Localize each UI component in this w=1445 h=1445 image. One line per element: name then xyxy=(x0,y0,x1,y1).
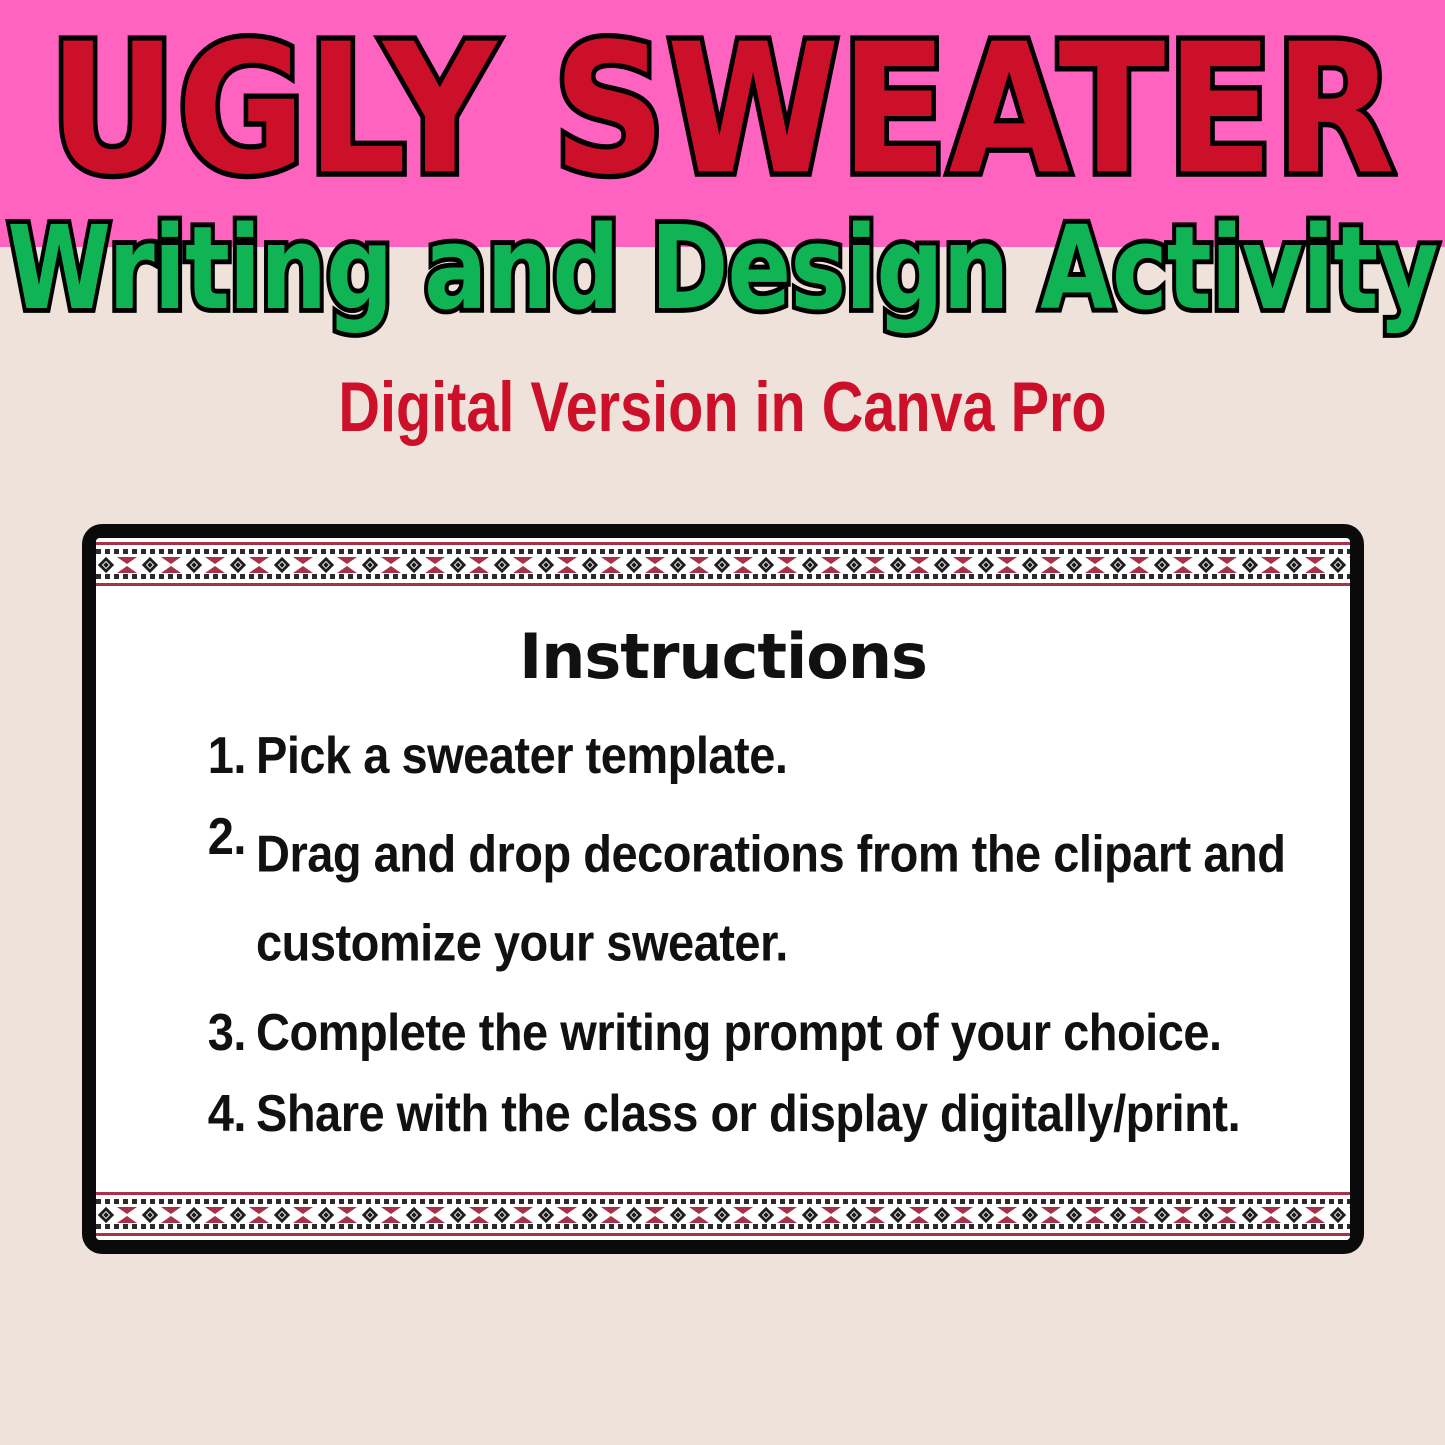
fair-isle-motif xyxy=(800,556,844,574)
fair-isle-motif xyxy=(1240,1206,1284,1224)
fair-isle-motif xyxy=(360,556,404,574)
hourglass-motif-bottom xyxy=(1349,1216,1350,1223)
hourglass-motif-top xyxy=(293,1207,313,1214)
fair-isle-motif xyxy=(756,556,800,574)
hourglass-motif-bottom xyxy=(1173,566,1193,573)
border-motif-row-top xyxy=(96,556,1350,574)
fair-isle-motif xyxy=(404,556,448,574)
border-motif-row-bottom xyxy=(96,1206,1350,1224)
list-item: 1. Pick a sweater template. xyxy=(198,729,1288,776)
hourglass-motif-top xyxy=(777,1207,797,1214)
fair-isle-motif xyxy=(228,1206,272,1224)
fair-isle-motif xyxy=(1196,1206,1240,1224)
list-item: 4. Share with the class or display digit… xyxy=(198,1087,1288,1134)
hourglass-motif-bottom xyxy=(1041,566,1061,573)
hourglass-motif-bottom xyxy=(469,566,489,573)
hourglass-motif-bottom xyxy=(777,1216,797,1223)
hourglass-motif-top xyxy=(1305,1207,1325,1214)
fair-isle-border-top xyxy=(96,538,1350,590)
hourglass-motif-top xyxy=(821,557,841,564)
hourglass-motif-top xyxy=(821,1207,841,1214)
fair-isle-motif xyxy=(140,1206,184,1224)
hourglass-motif-top xyxy=(337,557,357,564)
fair-isle-motif xyxy=(272,1206,316,1224)
instructions-step-list: 1. Pick a sweater template. 2. Drag and … xyxy=(148,729,1298,1168)
border-dots-top xyxy=(96,1199,1350,1204)
hourglass-motif-top xyxy=(645,1207,665,1214)
hourglass-motif-top xyxy=(249,1207,269,1214)
fair-isle-motif xyxy=(976,1206,1020,1224)
hourglass-motif-bottom xyxy=(337,1216,357,1223)
hourglass-motif-bottom xyxy=(821,1216,841,1223)
fair-isle-motif xyxy=(932,1206,976,1224)
hourglass-motif-top xyxy=(557,1207,577,1214)
fair-isle-motif xyxy=(448,1206,492,1224)
fair-isle-motif xyxy=(492,556,536,574)
fair-isle-motif xyxy=(844,1206,888,1224)
hourglass-motif-bottom xyxy=(293,566,313,573)
fair-isle-motif xyxy=(1152,556,1196,574)
fair-isle-motif xyxy=(1240,556,1284,574)
border-dots-bottom xyxy=(96,1224,1350,1229)
hourglass-motif-top xyxy=(205,1207,225,1214)
step-text: Pick a sweater template. xyxy=(256,729,1288,781)
hourglass-motif-top xyxy=(513,557,533,564)
hourglass-motif-top xyxy=(117,557,137,564)
fair-isle-motif xyxy=(1020,556,1064,574)
hourglass-motif-top xyxy=(733,1207,753,1214)
border-dots-bottom xyxy=(96,574,1350,579)
hourglass-motif-bottom xyxy=(1041,1216,1061,1223)
hourglass-motif-top xyxy=(1217,557,1237,564)
step-number: 4. xyxy=(198,1087,246,1139)
fair-isle-motif xyxy=(184,556,228,574)
hourglass-motif-bottom xyxy=(645,1216,665,1223)
fair-isle-motif xyxy=(580,556,624,574)
hourglass-motif-top xyxy=(733,557,753,564)
instructions-heading: Instructions xyxy=(148,620,1298,693)
hourglass-motif-top xyxy=(1041,557,1061,564)
hourglass-motif-bottom xyxy=(381,566,401,573)
fair-isle-motif xyxy=(140,556,184,574)
fair-isle-motif xyxy=(712,1206,756,1224)
hourglass-motif-top xyxy=(425,1207,445,1214)
step-number: 2. xyxy=(198,810,246,862)
instructions-card-surface: Instructions 1. Pick a sweater template.… xyxy=(96,538,1350,1240)
border-rule-bottom xyxy=(96,1233,1350,1236)
hourglass-motif-bottom xyxy=(1349,566,1350,573)
fair-isle-motif xyxy=(1328,556,1350,574)
hourglass-motif-bottom xyxy=(557,1216,577,1223)
fair-isle-motif xyxy=(1152,1206,1196,1224)
fair-isle-motif xyxy=(1328,1206,1350,1224)
hourglass-motif-bottom xyxy=(337,566,357,573)
hourglass-motif-top xyxy=(865,1207,885,1214)
fair-isle-motif xyxy=(536,556,580,574)
hourglass-motif-top xyxy=(689,557,709,564)
fair-isle-motif xyxy=(624,556,668,574)
hourglass-motif-bottom xyxy=(249,566,269,573)
hourglass-motif-top xyxy=(1173,557,1193,564)
hourglass-motif-top xyxy=(1085,1207,1105,1214)
step-text: Share with the class or display digitall… xyxy=(256,1087,1288,1139)
hourglass-motif-top xyxy=(469,557,489,564)
hourglass-motif-top xyxy=(601,1207,621,1214)
fair-isle-motif xyxy=(932,556,976,574)
hourglass-motif-bottom xyxy=(865,566,885,573)
hourglass-motif-top xyxy=(997,557,1017,564)
hourglass-motif-top xyxy=(909,1207,929,1214)
hourglass-motif-top xyxy=(1041,1207,1061,1214)
fair-isle-motif xyxy=(712,556,756,574)
hourglass-motif-bottom xyxy=(777,566,797,573)
hourglass-motif-bottom xyxy=(601,566,621,573)
hourglass-motif-top xyxy=(601,557,621,564)
hourglass-motif-bottom xyxy=(425,1216,445,1223)
fair-isle-motif xyxy=(1284,556,1328,574)
hourglass-motif-top xyxy=(1129,557,1149,564)
fair-isle-motif xyxy=(316,1206,360,1224)
fair-isle-motif xyxy=(1064,1206,1108,1224)
fair-isle-motif xyxy=(448,556,492,574)
hourglass-motif-top xyxy=(249,557,269,564)
hourglass-motif-bottom xyxy=(205,566,225,573)
hourglass-motif-top xyxy=(1129,1207,1149,1214)
fair-isle-motif xyxy=(1020,1206,1064,1224)
hourglass-motif-top xyxy=(865,557,885,564)
hourglass-motif-top xyxy=(777,557,797,564)
fair-isle-motif xyxy=(1284,1206,1328,1224)
hourglass-motif-bottom xyxy=(1217,1216,1237,1223)
hourglass-motif-bottom xyxy=(645,566,665,573)
poster-title-secondary: Writing and Design Activity xyxy=(0,213,1445,328)
fair-isle-motif xyxy=(536,1206,580,1224)
fair-isle-motif xyxy=(624,1206,668,1224)
hourglass-motif-bottom xyxy=(249,1216,269,1223)
hourglass-motif-bottom xyxy=(293,1216,313,1223)
step-text: Complete the writing prompt of your choi… xyxy=(256,1006,1288,1058)
fair-isle-border-bottom xyxy=(96,1188,1350,1240)
hourglass-motif-bottom xyxy=(909,566,929,573)
fair-isle-motif xyxy=(888,556,932,574)
fair-isle-motif xyxy=(668,556,712,574)
hourglass-motif-bottom xyxy=(997,566,1017,573)
hourglass-motif-top xyxy=(161,557,181,564)
step-number: 1. xyxy=(198,729,246,781)
fair-isle-motif xyxy=(756,1206,800,1224)
fair-isle-motif xyxy=(580,1206,624,1224)
hourglass-motif-bottom xyxy=(425,566,445,573)
hourglass-motif-top xyxy=(161,1207,181,1214)
step-number: 3. xyxy=(198,1006,246,1058)
hourglass-motif-top xyxy=(953,1207,973,1214)
hourglass-motif-bottom xyxy=(1261,1216,1281,1223)
border-rule-top xyxy=(96,1192,1350,1195)
hourglass-motif-top xyxy=(557,557,577,564)
fair-isle-motif xyxy=(492,1206,536,1224)
hourglass-motif-bottom xyxy=(997,1216,1017,1223)
hourglass-motif-top xyxy=(205,557,225,564)
hourglass-motif-top xyxy=(997,1207,1017,1214)
fair-isle-motif xyxy=(360,1206,404,1224)
hourglass-motif-bottom xyxy=(733,566,753,573)
hourglass-motif-top xyxy=(117,1207,137,1214)
hourglass-motif-top xyxy=(645,557,665,564)
fair-isle-motif xyxy=(404,1206,448,1224)
border-rule-bottom xyxy=(96,583,1350,586)
list-item: 2. Drag and drop decorations from the cl… xyxy=(198,810,1288,972)
hourglass-motif-top xyxy=(425,557,445,564)
hourglass-motif-bottom xyxy=(469,1216,489,1223)
fair-isle-motif xyxy=(844,556,888,574)
hourglass-motif-top xyxy=(1261,1207,1281,1214)
fair-isle-motif xyxy=(316,556,360,574)
hourglass-motif-top xyxy=(293,557,313,564)
hourglass-motif-bottom xyxy=(1085,566,1105,573)
hourglass-motif-top xyxy=(1173,1207,1193,1214)
hourglass-motif-bottom xyxy=(1305,1216,1325,1223)
hourglass-motif-bottom xyxy=(1217,566,1237,573)
hourglass-motif-bottom xyxy=(909,1216,929,1223)
fair-isle-motif xyxy=(800,1206,844,1224)
poster-title-primary: UGLY SWEATER xyxy=(0,18,1445,201)
list-item: 3. Complete the writing prompt of your c… xyxy=(198,1006,1288,1053)
hourglass-motif-top xyxy=(689,1207,709,1214)
hourglass-motif-bottom xyxy=(513,566,533,573)
hourglass-motif-bottom xyxy=(205,1216,225,1223)
hourglass-motif-top xyxy=(953,557,973,564)
hourglass-motif-bottom xyxy=(1129,566,1149,573)
fair-isle-motif xyxy=(888,1206,932,1224)
hourglass-motif-top xyxy=(337,1207,357,1214)
hourglass-motif-bottom xyxy=(117,1216,137,1223)
hourglass-motif-bottom xyxy=(1173,1216,1193,1223)
hourglass-motif-top xyxy=(381,557,401,564)
hourglass-motif-bottom xyxy=(689,566,709,573)
hourglass-motif-bottom xyxy=(161,566,181,573)
poster-tagline: Digital Version in Canva Pro xyxy=(29,372,1416,443)
hourglass-motif-bottom xyxy=(733,1216,753,1223)
hourglass-motif-top xyxy=(381,1207,401,1214)
hourglass-motif-bottom xyxy=(1085,1216,1105,1223)
fair-isle-motif xyxy=(1196,556,1240,574)
hourglass-motif-bottom xyxy=(953,566,973,573)
border-rule-top xyxy=(96,542,1350,545)
fair-isle-motif xyxy=(272,556,316,574)
fair-isle-motif xyxy=(668,1206,712,1224)
hourglass-motif-bottom xyxy=(601,1216,621,1223)
hourglass-motif-bottom xyxy=(1129,1216,1149,1223)
hourglass-motif-bottom xyxy=(381,1216,401,1223)
hourglass-motif-top xyxy=(909,557,929,564)
hourglass-motif-top xyxy=(1349,1207,1350,1214)
fair-isle-motif xyxy=(1108,1206,1152,1224)
fair-isle-motif xyxy=(976,556,1020,574)
hourglass-motif-bottom xyxy=(513,1216,533,1223)
border-dots-top xyxy=(96,549,1350,554)
hourglass-motif-top xyxy=(1305,557,1325,564)
hourglass-motif-bottom xyxy=(953,1216,973,1223)
hourglass-motif-top xyxy=(1349,557,1350,564)
hourglass-motif-bottom xyxy=(689,1216,709,1223)
hourglass-motif-bottom xyxy=(161,1216,181,1223)
hourglass-motif-bottom xyxy=(117,566,137,573)
poster-title-block: UGLY SWEATER Writing and Design Activity… xyxy=(0,0,1445,360)
instructions-card: Instructions 1. Pick a sweater template.… xyxy=(82,524,1364,1254)
fair-isle-motif xyxy=(96,1206,140,1224)
hourglass-motif-bottom xyxy=(1305,566,1325,573)
fair-isle-motif xyxy=(1108,556,1152,574)
hourglass-motif-top xyxy=(1085,557,1105,564)
instructions-body: Instructions 1. Pick a sweater template.… xyxy=(96,590,1350,1188)
hourglass-motif-top xyxy=(1217,1207,1237,1214)
hourglass-motif-top xyxy=(469,1207,489,1214)
hourglass-motif-bottom xyxy=(557,566,577,573)
hourglass-motif-bottom xyxy=(821,566,841,573)
hourglass-motif-bottom xyxy=(865,1216,885,1223)
step-text: Drag and drop decorations from the clipa… xyxy=(256,810,1288,988)
fair-isle-motif xyxy=(1064,556,1108,574)
hourglass-motif-top xyxy=(1261,557,1281,564)
fair-isle-motif xyxy=(184,1206,228,1224)
fair-isle-motif xyxy=(228,556,272,574)
hourglass-motif-top xyxy=(513,1207,533,1214)
fair-isle-motif xyxy=(96,556,140,574)
hourglass-motif-bottom xyxy=(1261,566,1281,573)
